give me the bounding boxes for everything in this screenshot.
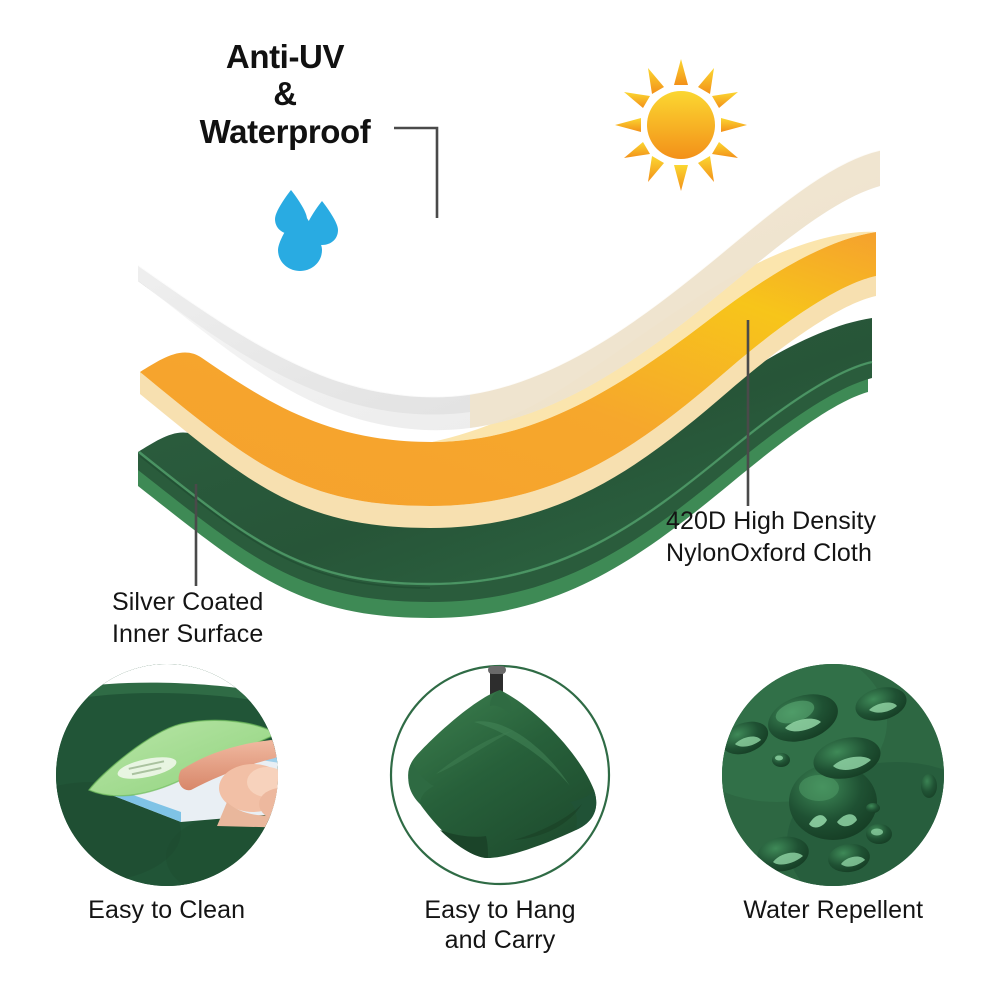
water-droplets-icon (275, 190, 338, 271)
hand-wiping-cloth-image (31, 662, 303, 892)
callout-silver-coating: Silver Coated Inner Surface (112, 586, 263, 650)
callout-nylon-line-2: NylonOxford Cloth (666, 537, 876, 569)
feature-caption-easy-to-hang-and-carry: Easy to Hang and Carry (424, 896, 575, 955)
water-beads-on-fabric-image (697, 662, 969, 892)
feature-caption-water-repellent: Water Repellent (743, 896, 923, 926)
caption-line-1: Easy to Clean (88, 896, 245, 926)
feature-easy-to-hang-and-carry: Easy to Hang and Carry (340, 662, 660, 955)
feature-row: Easy to Clean (0, 662, 1000, 1000)
callout-silver-line-2: Inner Surface (112, 618, 263, 650)
feature-caption-easy-to-clean: Easy to Clean (88, 896, 245, 926)
caption-line-1: Water Repellent (743, 896, 923, 926)
leader-line-top-layer (394, 128, 437, 218)
callout-nylon-line-1: 420D High Density (666, 505, 876, 537)
feature-water-repellent: Water Repellent (673, 662, 993, 926)
sun-icon (615, 59, 747, 191)
feature-easy-to-clean: Easy to Clean (7, 662, 327, 926)
callout-nylon-cloth: 420D High Density NylonOxford Cloth (666, 505, 876, 569)
infographic-canvas: Anti-UV & Waterproof (0, 0, 1000, 1000)
caption-line-1: Easy to Hang (424, 896, 575, 926)
caption-line-2: and Carry (424, 926, 575, 956)
callout-silver-line-1: Silver Coated (112, 586, 263, 618)
green-stuff-sack-image (364, 662, 636, 892)
